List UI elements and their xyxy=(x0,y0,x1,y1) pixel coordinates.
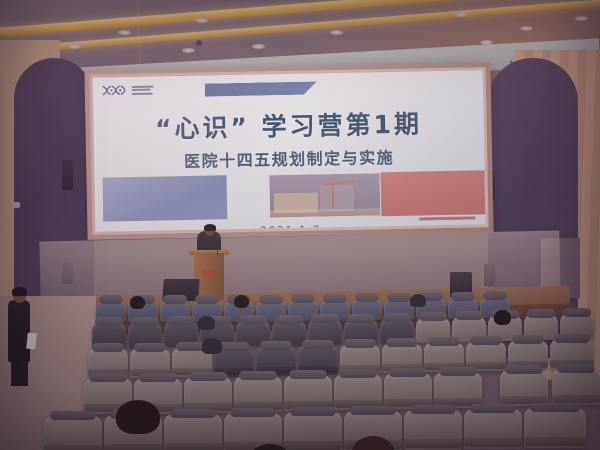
downlight-icon xyxy=(455,12,468,17)
presenter-hair xyxy=(204,224,216,231)
seat xyxy=(434,372,482,408)
seat xyxy=(500,370,548,406)
slide-image-band-row xyxy=(102,170,485,221)
downlight-icon xyxy=(68,44,81,49)
slide-subtitle: 医院十四五规划制定与实施 xyxy=(94,142,484,173)
standing-person-hair xyxy=(12,287,27,296)
audience-member-head xyxy=(494,310,511,325)
audience-seating xyxy=(0,296,600,450)
downlight-icon xyxy=(330,30,343,35)
slide-logo xyxy=(102,84,154,97)
downlight-icon xyxy=(182,48,195,53)
seat xyxy=(164,414,222,450)
slide-building-photo xyxy=(268,172,381,218)
downlight-icon xyxy=(252,44,265,49)
podium-logo-icon xyxy=(203,270,216,277)
seat xyxy=(334,374,382,410)
organization-logo-icon xyxy=(102,84,128,96)
audience-member-head xyxy=(116,400,160,434)
audience-member-head xyxy=(130,296,145,309)
seat xyxy=(404,410,462,450)
projection-screen: “心识” 学习营第1期 医院十四五规划制定与实施 2021.1.7 xyxy=(84,62,493,240)
ceiling-camera-icon xyxy=(196,40,202,46)
audience-member-head xyxy=(234,295,249,308)
photo-light-trails xyxy=(270,208,380,217)
presentation-slide: “心识” 学习营第1期 医院十四五规划制定与实施 2021.1.7 xyxy=(93,70,486,231)
slide-title: “心识” 学习营第1期 xyxy=(93,110,483,144)
photo-building-secondary xyxy=(320,185,354,212)
wall-sconce-icon xyxy=(13,202,20,208)
seat xyxy=(552,369,600,405)
seat xyxy=(524,408,586,448)
slide-band-blue xyxy=(102,175,227,221)
seat xyxy=(284,375,332,411)
seat xyxy=(284,412,342,450)
organization-logo-wordmark xyxy=(132,85,154,94)
document-papers xyxy=(26,333,37,350)
auditorium-presentation-photo: “心识” 学习营第1期 医院十四五规划制定与实施 2021.1.7 xyxy=(0,0,600,450)
seat xyxy=(464,409,522,449)
downlight-icon xyxy=(118,30,131,35)
slide-band-red xyxy=(380,170,485,216)
downlight-icon xyxy=(195,18,208,23)
standing-person-body xyxy=(8,300,30,362)
audience-member-head xyxy=(198,316,215,330)
wall-speaker-left xyxy=(62,160,73,190)
downlight-icon xyxy=(575,16,588,21)
standing-person-legs xyxy=(11,360,28,386)
audience-member-head xyxy=(410,294,426,307)
microphone-icon xyxy=(217,247,218,255)
downlight-icon xyxy=(520,26,533,31)
audience-member-head xyxy=(202,338,222,354)
seat xyxy=(44,416,102,450)
slide-band-gap xyxy=(226,174,269,219)
slide-ribbon-decoration xyxy=(205,81,317,96)
seat xyxy=(184,377,232,413)
seat xyxy=(234,376,282,412)
seat xyxy=(384,373,432,409)
